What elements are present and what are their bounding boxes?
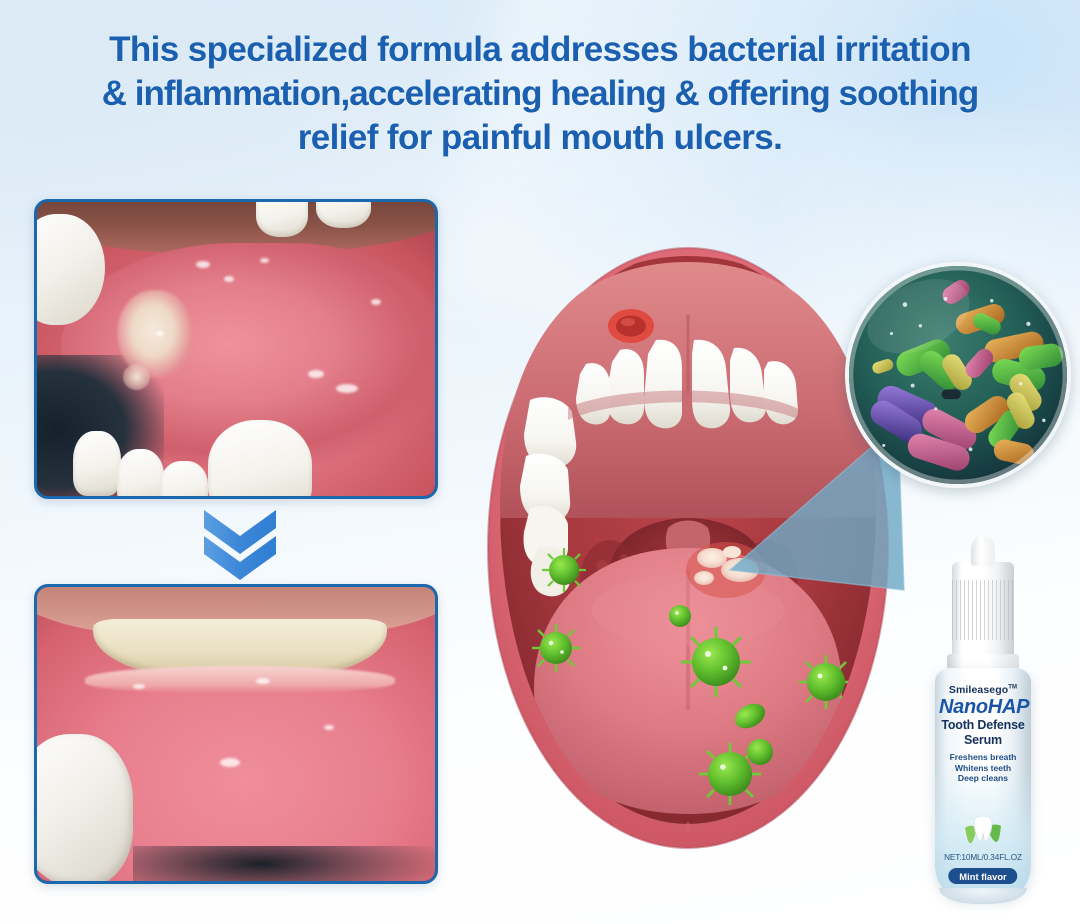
after-photo-panel — [34, 584, 438, 884]
ulcer-lesion-before — [117, 290, 193, 378]
benefit-list: Freshens breath Whitens teeth Deep clean… — [939, 752, 1027, 784]
benefit-item: Freshens breath — [939, 752, 1027, 763]
cap-ribs — [952, 580, 1014, 640]
product-name: NanoHAP — [939, 697, 1027, 718]
headline-line-1: This specialized formula addresses bacte… — [26, 28, 1054, 72]
bottle-body: SmileasegoTM NanoHAP Tooth Defense Serum… — [935, 668, 1031, 898]
benefit-item: Whitens teeth — [939, 763, 1027, 774]
tongue — [534, 548, 842, 814]
tooth-leaf-icon — [955, 812, 1011, 846]
after-photo-image — [37, 587, 435, 881]
headline-line-2: & inflammation,accelerating healing & of… — [26, 72, 1054, 116]
trademark-symbol: TM — [1008, 685, 1017, 691]
before-photo-image — [37, 202, 435, 496]
gloved-finger-after — [37, 734, 133, 881]
before-photo-panel — [34, 199, 438, 499]
brand-name: SmileasegoTM — [939, 684, 1027, 696]
bottle-base — [939, 888, 1027, 904]
palate-ulcer — [608, 309, 654, 343]
product-line-1: Tooth Defense — [939, 719, 1027, 733]
page-title: This specialized formula addresses bacte… — [0, 28, 1080, 160]
product-bottle: SmileasegoTM NanoHAP Tooth Defense Serum… — [925, 562, 1041, 902]
promo-poster: This specialized formula addresses bacte… — [0, 0, 1080, 924]
product-label: SmileasegoTM NanoHAP Tooth Defense Serum… — [935, 684, 1031, 784]
benefit-item: Deep cleans — [939, 773, 1027, 784]
bacteria-magnifier — [845, 262, 1071, 488]
transition-arrow — [198, 508, 282, 580]
headline-line-3: relief for painful mouth ulcers. — [26, 116, 1054, 160]
mouth-illustration — [468, 218, 908, 878]
net-content: NET:10ML/0.34FL.OZ — [935, 853, 1031, 862]
flavor-badge: Mint flavor — [948, 868, 1017, 884]
product-line-2: Serum — [939, 734, 1027, 748]
